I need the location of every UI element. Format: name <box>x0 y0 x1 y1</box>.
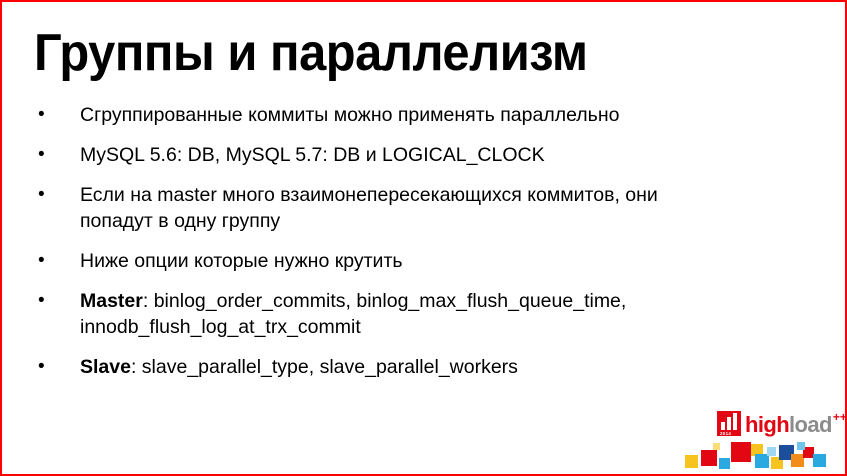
bullet-icon: • <box>38 354 50 380</box>
logo-decoration-plus-shapes <box>679 436 831 470</box>
highload-bars-icon: 2014 <box>717 411 741 436</box>
bullet-list: • Сгруппированные коммиты можно применят… <box>32 102 732 394</box>
list-item-text: Master: binlog_order_commits, binlog_max… <box>80 288 732 340</box>
bullet-icon: • <box>38 288 50 314</box>
list-item-text: Ниже опции которые нужно крутить <box>80 248 732 274</box>
logo-text-load: load <box>789 413 832 436</box>
logo-wordmark: 2014 high load ++ <box>717 410 847 436</box>
list-item: • Master: binlog_order_commits, binlog_m… <box>32 288 732 340</box>
list-item-body: : slave_parallel_type, slave_parallel_wo… <box>131 356 518 378</box>
page-title: Группы и параллелизм <box>34 24 588 82</box>
list-item-text: Сгруппированные коммиты можно применять … <box>80 102 732 128</box>
list-item: • Если на master много взаимонепересекаю… <box>32 182 732 234</box>
logo-text-plusplus: ++ <box>833 411 847 423</box>
list-item-text: MySQL 5.6: DB, MySQL 5.7: DB и LOGICAL_C… <box>80 142 732 168</box>
logo-year: 2014 <box>720 431 731 436</box>
bullet-icon: • <box>38 142 50 168</box>
list-item: • Ниже опции которые нужно крутить <box>32 248 732 274</box>
presentation-slide: Группы и параллелизм • Сгруппированные к… <box>0 0 847 476</box>
highload-logo: 2014 high load ++ <box>703 406 831 468</box>
list-item: • Сгруппированные коммиты можно применят… <box>32 102 732 128</box>
bullet-icon: • <box>38 102 50 128</box>
list-item-text: Slave: slave_parallel_type, slave_parall… <box>80 354 732 380</box>
bullet-icon: • <box>38 182 50 208</box>
logo-text-high: high <box>745 413 789 436</box>
list-item: • MySQL 5.6: DB, MySQL 5.7: DB и LOGICAL… <box>32 142 732 168</box>
list-item: • Slave: slave_parallel_type, slave_para… <box>32 354 732 380</box>
list-item-lead: Slave <box>80 356 131 378</box>
list-item-lead: Master <box>80 290 143 312</box>
bullet-icon: • <box>38 248 50 274</box>
list-item-text: Если на master много взаимонепересекающи… <box>80 182 732 234</box>
list-item-body: : binlog_order_commits, binlog_max_flush… <box>80 290 626 338</box>
